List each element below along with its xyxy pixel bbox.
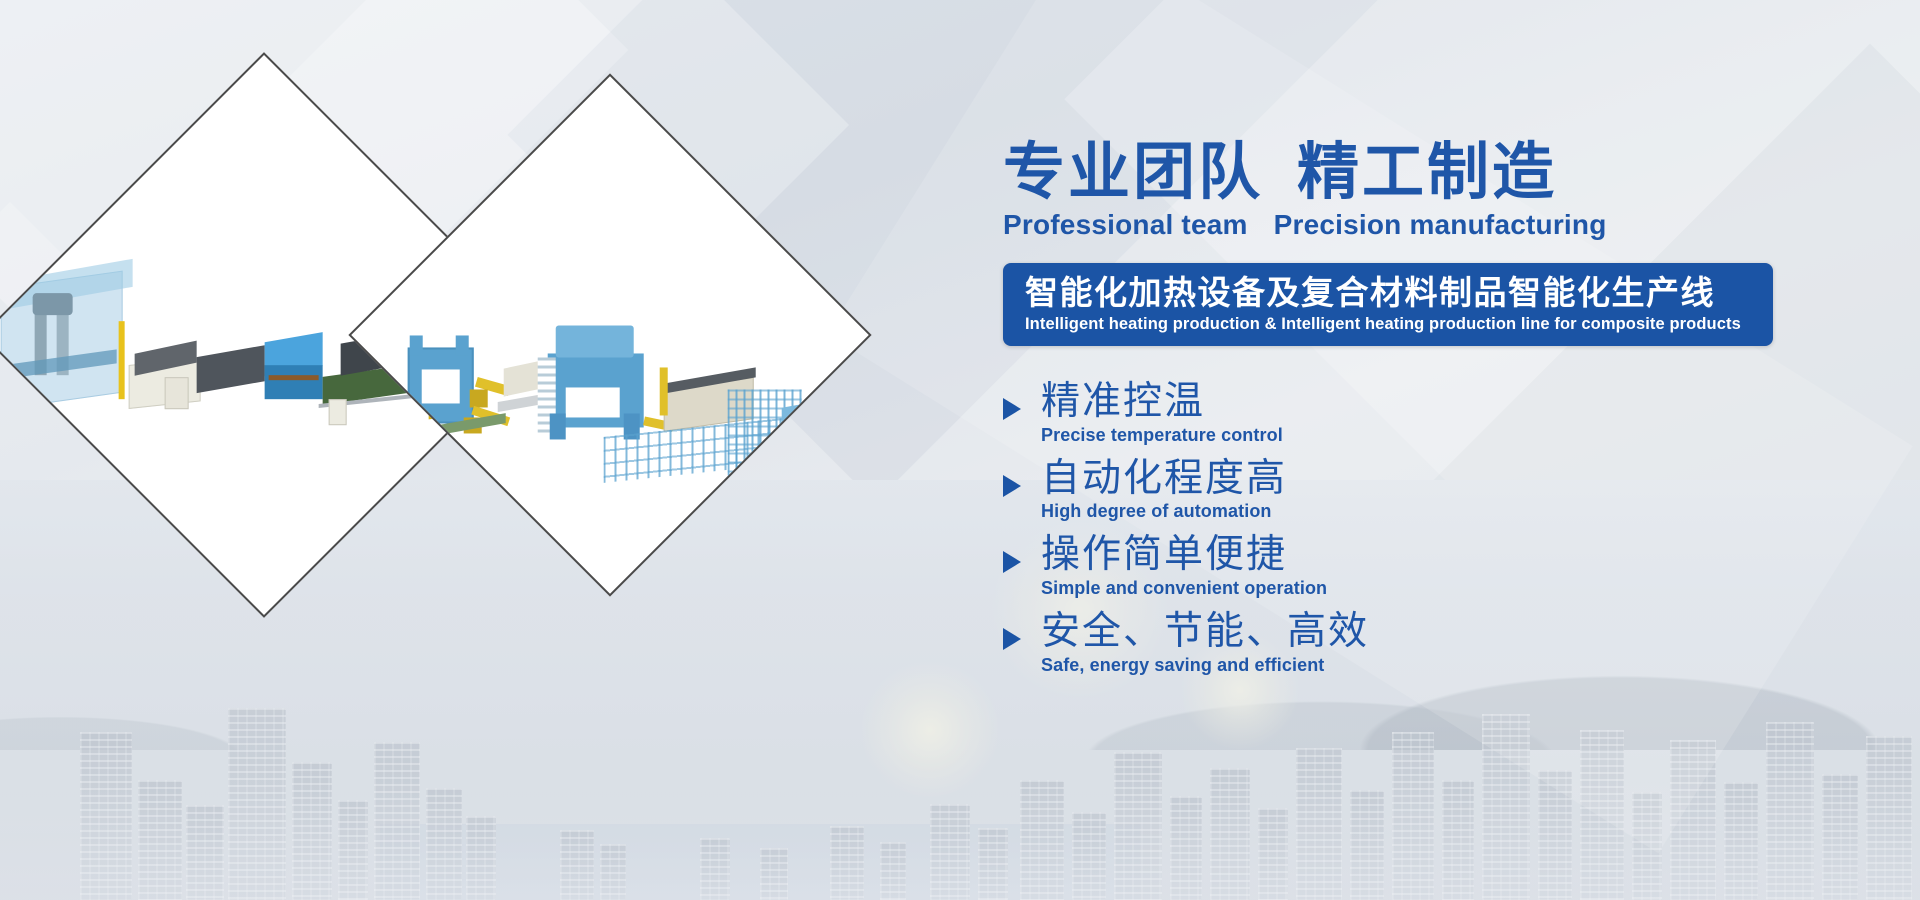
triangle-right-icon [1003,398,1021,420]
triangle-right-icon [1003,551,1021,573]
small-cabinet [329,399,347,425]
feature-label-cn: 自动化程度高 [1041,457,1287,501]
cnc-gantry [660,367,668,415]
product-ribbon-banner: 智能化加热设备及复合材料制品智能化生产线 Intelligent heating… [1003,263,1773,346]
feature-text: 自动化程度高 High degree of automation [1041,457,1287,523]
feature-label-cn: 精准控温 [1041,380,1283,424]
feature-item: 自动化程度高 High degree of automation [1003,457,1803,523]
feature-label-cn: 安全、节能、高效 [1041,610,1369,654]
feature-text: 操作简单便捷 Simple and convenient operation [1041,533,1327,599]
feature-text: 精准控温 Precise temperature control [1041,380,1283,446]
feature-label-cn: 操作简单便捷 [1041,533,1327,577]
wireframe-tower [728,389,802,475]
triangle-right-icon [1003,475,1021,497]
production-line-render-right [352,301,812,501]
blue-frame-post-right [456,335,469,355]
headline-cn-left: 专业团队 [1003,140,1263,205]
feature-label-en: High degree of automation [1041,501,1287,522]
blue-frame-post-left [410,335,423,355]
feature-item: 精准控温 Precise temperature control [1003,380,1803,446]
press-leg-left [550,413,566,439]
feature-label-en: Simple and convenient operation [1041,578,1327,599]
blue-block-end [782,403,808,432]
blue-station-shelf [269,375,319,380]
conveyor-dark [197,345,265,393]
triangle-right-icon [1003,628,1021,650]
feature-label-en: Safe, energy saving and efficient [1041,655,1369,676]
subtitle-en-left: Professional team [1003,209,1248,241]
blue-station-body [265,365,323,399]
feature-item: 安全、节能、高效 Safe, energy saving and efficie… [1003,610,1803,676]
ribbon-title-cn: 智能化加热设备及复合材料制品智能化生产线 [1025,274,1755,313]
banner-stage: 专业团队 精工制造 Professional team Precision ma… [0,0,1920,900]
subtitle-en-right: Precision manufacturing [1274,209,1607,241]
blue-frame-gap [422,369,460,403]
yellow-guard-left [119,321,125,399]
feature-label-en: Precise temperature control [1041,425,1283,446]
headline-cn-right: 精工制造 [1297,140,1557,205]
main-press-top [556,325,634,357]
page-subtitle: Professional team Precision manufacturin… [1003,209,1803,241]
robot-base-a [470,389,488,407]
press-cylinder [33,293,73,315]
text-column: 专业团队 精工制造 Professional team Precision ma… [1003,140,1803,687]
control-cabinet [165,377,189,409]
feature-list: 精准控温 Precise temperature control 自动化程度高 … [1003,380,1803,676]
main-press-window [566,387,620,417]
page-title: 专业团队 精工制造 [1003,140,1803,205]
ribbon-title-en: Intelligent heating production & Intelli… [1025,315,1755,334]
feature-text: 安全、节能、高效 Safe, energy saving and efficie… [1041,610,1369,676]
feature-item: 操作简单便捷 Simple and convenient operation [1003,533,1803,599]
